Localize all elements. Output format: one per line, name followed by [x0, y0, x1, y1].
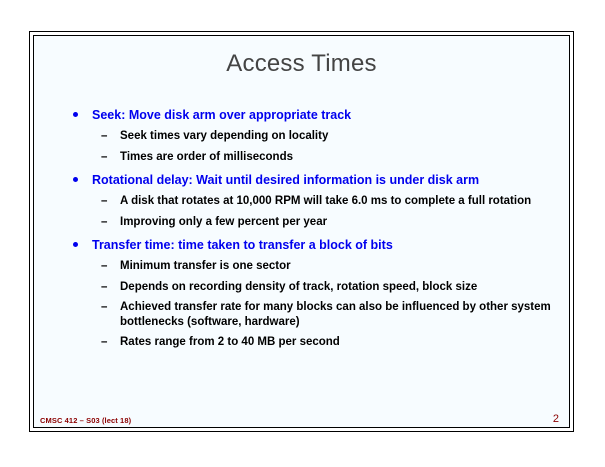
bullet-level2-label: Minimum transfer is one sector	[120, 260, 291, 272]
en-dash-icon: –	[101, 259, 107, 274]
bullet-level2-label: Seek times vary depending on locality	[120, 130, 328, 142]
bullet-level2: – Minimum transfer is one sector	[70, 259, 551, 274]
bullet-level2: – Depends on recording density of track,…	[70, 280, 551, 295]
bullet-level2-label: A disk that rotates at 10,000 RPM will t…	[120, 195, 531, 207]
slide-footer: CMSC 412 – S03 (lect 18) 2	[40, 411, 563, 425]
bullet-level1: Transfer time: time taken to transfer a …	[70, 238, 551, 253]
slide-frame-inner: Access Times Seek: Move disk arm over ap…	[33, 35, 570, 428]
en-dash-icon: –	[101, 194, 107, 209]
en-dash-icon: –	[101, 215, 107, 230]
bullet-level1-label: Rotational delay: Wait until desired inf…	[92, 173, 479, 187]
bullet-level2: – A disk that rotates at 10,000 RPM will…	[70, 194, 551, 209]
bullet-level2-label: Achieved transfer rate for many blocks c…	[120, 301, 551, 328]
bullet-level1-label: Transfer time: time taken to transfer a …	[92, 238, 393, 252]
diamond-bullet-icon	[73, 177, 78, 182]
en-dash-icon: –	[101, 150, 107, 165]
en-dash-icon: –	[101, 129, 107, 144]
bullet-level2: – Seek times vary depending on locality	[70, 129, 551, 144]
bullet-level2-label: Times are order of milliseconds	[120, 151, 293, 163]
slide-body: Seek: Move disk arm over appropriate tra…	[70, 108, 551, 350]
page-title: Access Times	[34, 50, 569, 78]
en-dash-icon: –	[101, 280, 107, 295]
bullet-level2: – Achieved transfer rate for many blocks…	[70, 300, 551, 329]
footer-page-number: 2	[553, 413, 559, 425]
bullet-level2-label: Improving only a few percent per year	[120, 216, 327, 228]
bullet-level1: Seek: Move disk arm over appropriate tra…	[70, 108, 551, 123]
bullet-level1: Rotational delay: Wait until desired inf…	[70, 173, 551, 188]
footer-course-label: CMSC 412 – S03 (lect 18)	[40, 416, 131, 425]
bullet-level2: – Rates range from 2 to 40 MB per second	[70, 335, 551, 350]
bullet-level2: – Times are order of milliseconds	[70, 150, 551, 165]
bullet-level1-label: Seek: Move disk arm over appropriate tra…	[92, 108, 351, 122]
bullet-level2-label: Depends on recording density of track, r…	[120, 281, 477, 293]
en-dash-icon: –	[101, 335, 107, 350]
diamond-bullet-icon	[73, 112, 78, 117]
en-dash-icon: –	[101, 300, 107, 315]
diamond-bullet-icon	[73, 242, 78, 247]
bullet-level2: – Improving only a few percent per year	[70, 215, 551, 230]
bullet-level2-label: Rates range from 2 to 40 MB per second	[120, 336, 340, 348]
slide-frame-outer: Access Times Seek: Move disk arm over ap…	[29, 31, 574, 432]
